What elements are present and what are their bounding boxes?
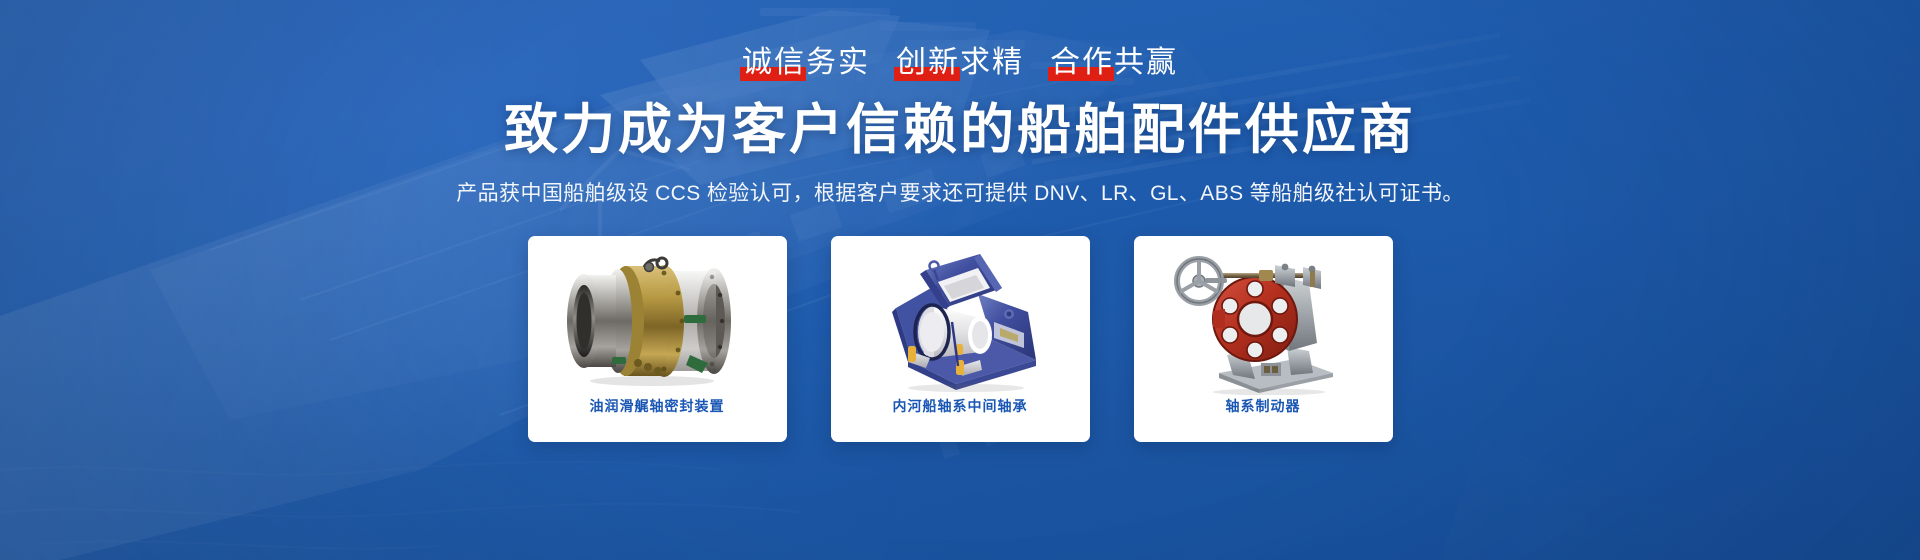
slogan-phrase-3: 合作共赢 <box>1050 48 1178 80</box>
hero-banner: 诚信务实 创新求精 合作共赢 致力成为客户信赖的船舶配件供应商 产品获中国船舶级… <box>0 0 1920 560</box>
banner-content: 诚信务实 创新求精 合作共赢 致力成为客户信赖的船舶配件供应商 产品获中国船舶级… <box>0 0 1920 560</box>
product-card[interactable]: 内河船轴系中间轴承 <box>831 236 1090 442</box>
shafting-brake-photo <box>1142 246 1385 396</box>
slogan-phrase-3-text: 合作共赢 <box>1050 46 1178 79</box>
product-card-label: 油润滑艉轴密封装置 <box>590 398 725 415</box>
page-subtitle: 产品获中国船舶级设 CCS 检验认可，根据客户要求还可提供 DNV、LR、GL、… <box>456 180 1464 207</box>
slogan-phrase-1: 诚信务实 <box>742 48 870 80</box>
inland-vessel-intermediate-bearing-photo <box>839 246 1082 396</box>
product-card[interactable]: 油润滑艉轴密封装置 <box>528 236 787 442</box>
product-card[interactable]: 轴系制动器 <box>1134 236 1393 442</box>
oil-lubricated-stern-shaft-seal-photo <box>536 246 779 396</box>
slogan-line: 诚信务实 创新求精 合作共赢 <box>742 48 1178 80</box>
product-card-list: 油润滑艉轴密封装置 <box>528 236 1393 442</box>
slogan-phrase-1-text: 诚信务实 <box>742 46 870 79</box>
product-card-label: 轴系制动器 <box>1226 398 1301 415</box>
slogan-phrase-2-text: 创新求精 <box>896 46 1024 79</box>
page-title: 致力成为客户信赖的船舶配件供应商 <box>504 102 1416 159</box>
product-card-label: 内河船轴系中间轴承 <box>893 398 1028 415</box>
slogan-phrase-2: 创新求精 <box>896 48 1024 80</box>
